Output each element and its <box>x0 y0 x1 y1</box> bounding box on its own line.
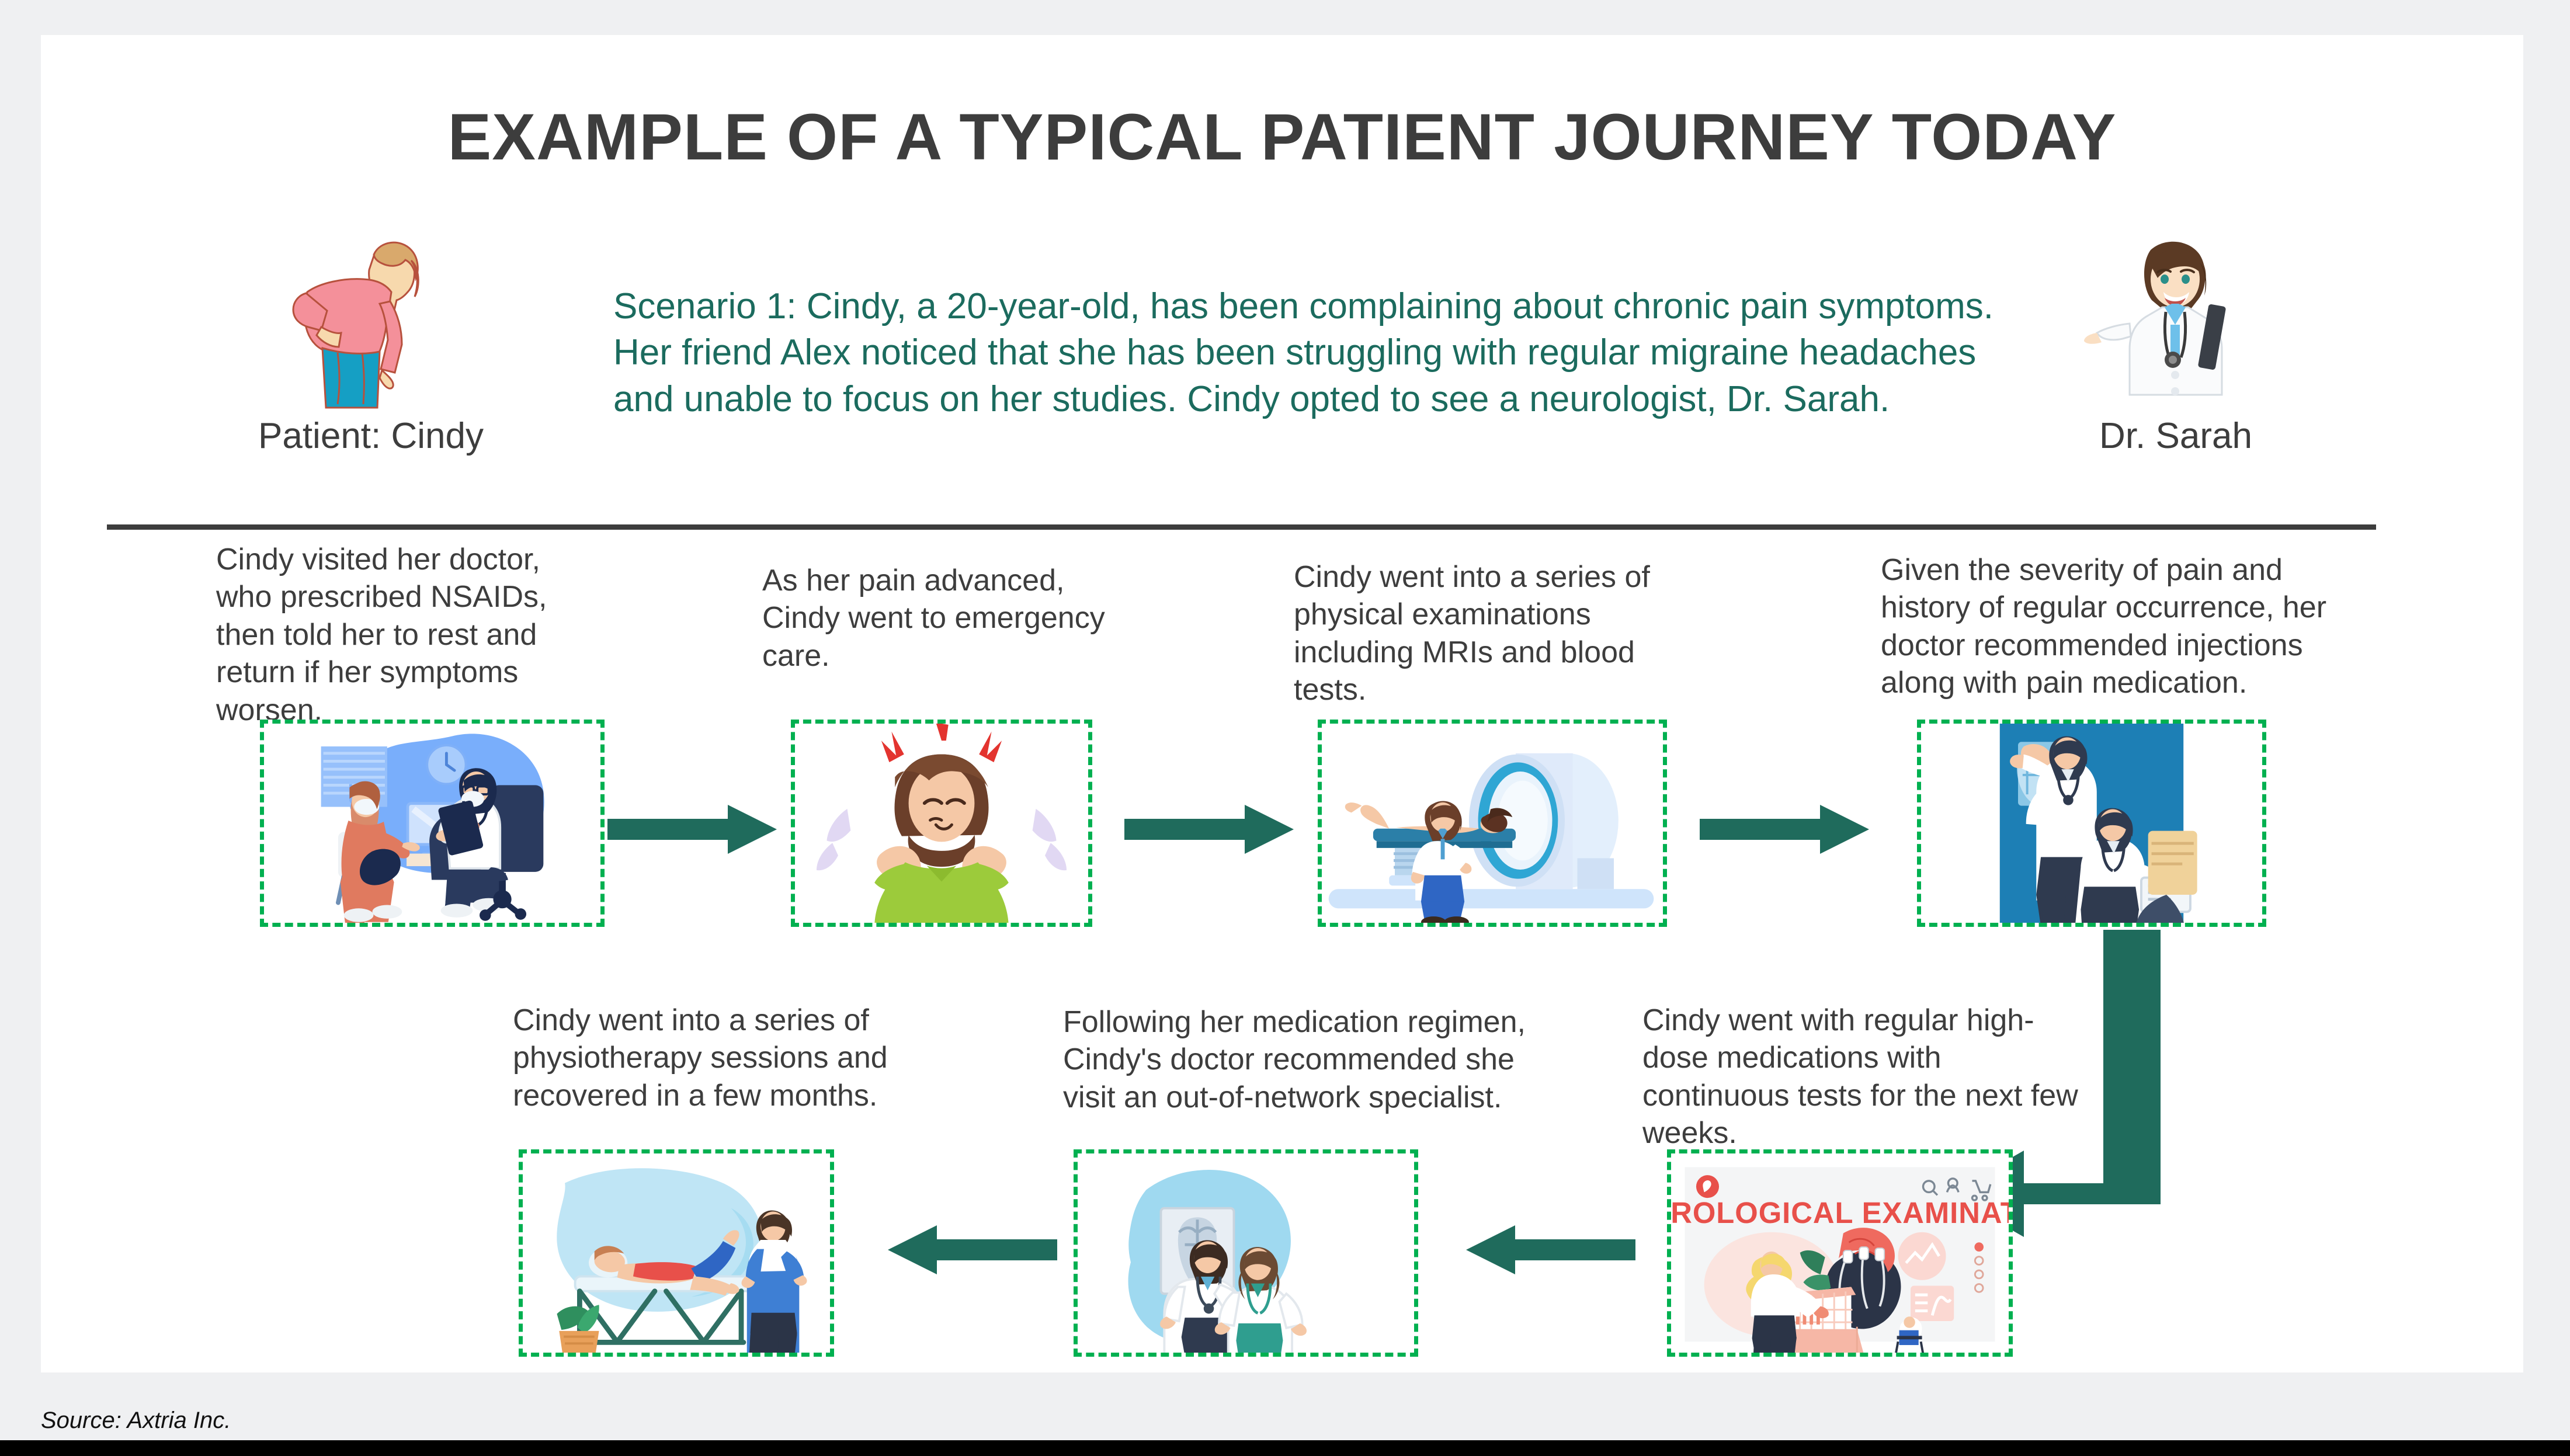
neurological-examination-banner-icon: NEUROLOGICAL EXAMINATION <box>1671 1153 2009 1356</box>
woman-with-back-pain-icon <box>234 234 508 409</box>
slide-panel: EXAMPLE OF A TYPICAL PATIENT JOURNEY TOD… <box>41 35 2523 1372</box>
page-title: EXAMPLE OF A TYPICAL PATIENT JOURNEY TOD… <box>41 99 2523 175</box>
header-divider <box>107 524 2376 530</box>
step-6-image-frame <box>1074 1149 1418 1357</box>
patient-label: Patient: Cindy <box>234 415 508 457</box>
source-label: Source: Axtria Inc. <box>41 1408 231 1434</box>
doctor-consultation-icon <box>264 724 600 926</box>
female-doctor-icon <box>2038 234 2313 409</box>
step-3-text: Cindy went into a series of physical exa… <box>1294 558 1668 709</box>
step-2-text: As her pain advanced, Cindy went to emer… <box>762 562 1124 675</box>
step-4-text: Given the severity of pain and history o… <box>1881 551 2366 702</box>
step-5-text: Cindy went with regular high-dose medica… <box>1642 1002 2086 1152</box>
step-4-image-frame <box>1917 720 2266 927</box>
two-doctors-with-xray-icon <box>1078 1153 1414 1356</box>
physiotherapy-session-icon <box>523 1153 830 1356</box>
arrow-step2-to-step3 <box>1124 805 1294 857</box>
doctor-label: Dr. Sarah <box>2038 415 2313 457</box>
step-7-text: Cindy went into a series of physiotherap… <box>513 1002 933 1114</box>
step-1-text: Cindy visited her doctor, who prescribed… <box>216 541 590 729</box>
banner-title-text: NEUROLOGICAL EXAMINATION <box>1671 1196 2009 1229</box>
step-2-image-frame <box>791 720 1092 927</box>
arrow-step3-to-step4 <box>1700 805 1869 857</box>
arrow-step6-to-step7 <box>888 1225 1057 1277</box>
step-1-image-frame <box>260 720 605 927</box>
patient-persona: Patient: Cindy <box>234 234 508 457</box>
step-5-image-frame: NEUROLOGICAL EXAMINATION <box>1667 1149 2013 1357</box>
doctors-reviewing-xray-icon <box>1921 724 2262 926</box>
scenario-text: Scenario 1: Cindy, a 20-year-old, has be… <box>613 283 2027 422</box>
slide-root: EXAMPLE OF A TYPICAL PATIENT JOURNEY TOD… <box>0 0 2570 1456</box>
mri-scan-icon <box>1322 724 1663 926</box>
doctor-persona: Dr. Sarah <box>2038 234 2313 457</box>
arrow-step5-to-step6 <box>1466 1225 1635 1277</box>
arrow-step1-to-step2 <box>607 805 777 857</box>
bottom-bar <box>0 1440 2570 1456</box>
step-3-image-frame <box>1318 720 1667 927</box>
woman-with-migraine-icon <box>795 724 1088 925</box>
step-6-text: Following her medication regimen, Cindy'… <box>1063 1003 1530 1116</box>
step-7-image-frame <box>519 1149 834 1357</box>
